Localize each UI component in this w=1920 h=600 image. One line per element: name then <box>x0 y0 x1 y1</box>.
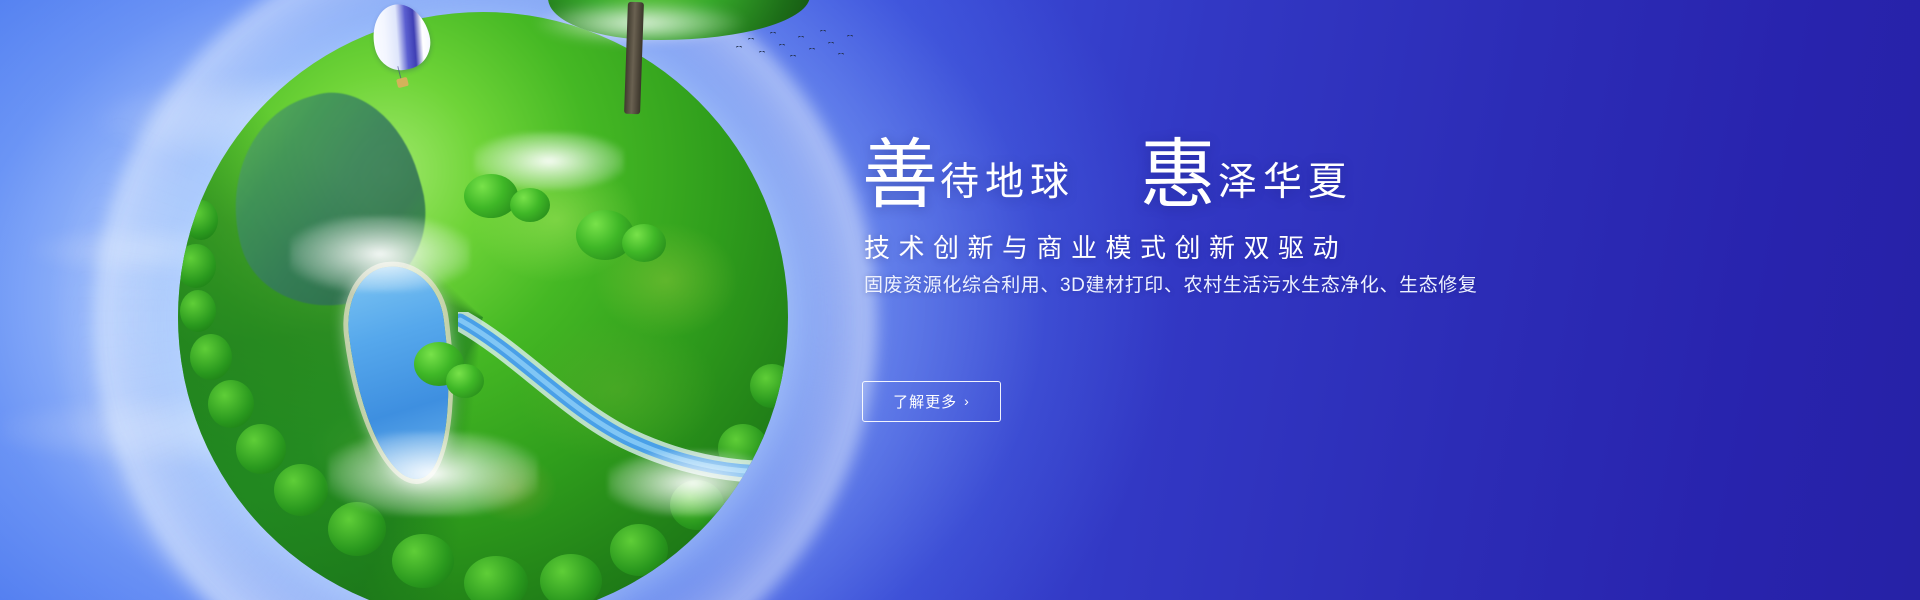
planet-river <box>458 312 788 532</box>
headline-phrase-1-lead: 善 <box>862 134 938 218</box>
rim-tree-bump <box>750 364 788 408</box>
subtitle: 技术创新与商业模式创新双驱动 <box>864 228 1347 265</box>
headline-phrase-1: 善待地球 <box>862 132 1075 208</box>
rim-tree-bump <box>540 554 602 600</box>
planet-grass-texture <box>178 12 788 600</box>
rim-tree-bump <box>236 424 286 474</box>
bird-icon <box>847 35 853 38</box>
bird-icon <box>736 46 742 49</box>
headline-phrase-2: 惠泽华夏 <box>1140 132 1353 208</box>
balloon-envelope <box>366 0 436 76</box>
planet-bush <box>510 188 550 222</box>
bird-icon <box>759 51 765 54</box>
planet-bush <box>576 210 634 260</box>
sky-arc-glow <box>60 0 880 600</box>
rim-tree-bump <box>328 502 386 556</box>
learn-more-label: 了解更多 <box>893 391 957 412</box>
balloon-line <box>397 66 401 80</box>
learn-more-button[interactable]: 了解更多 › <box>862 381 1001 422</box>
rim-tree-bump <box>180 290 216 332</box>
rim-tree-bump <box>178 244 216 288</box>
planet-bush <box>622 224 666 262</box>
planet-bush <box>464 174 518 218</box>
rim-tree-bump <box>184 200 218 240</box>
chevron-right-icon: › <box>964 394 970 408</box>
bird-icon <box>838 53 844 56</box>
bird-icon <box>790 55 796 58</box>
rim-tree-bump <box>610 524 668 576</box>
balloon-basket <box>396 77 409 88</box>
rim-tree-bump <box>670 480 724 530</box>
hot-air-balloon-icon <box>373 4 429 100</box>
planet-mountain-ridge <box>207 74 448 328</box>
green-planet <box>178 12 788 600</box>
planet-bush <box>446 364 484 398</box>
hero-banner: 善待地球 惠泽华夏 技术创新与商业模式创新双驱动 固废资源化综合利用、3D建材打… <box>0 0 1920 600</box>
rim-tree-bump <box>274 464 328 516</box>
planet-forest-rim <box>178 12 788 600</box>
bird-icon <box>820 30 826 33</box>
rim-tree-bump <box>464 556 528 600</box>
planet-low-cloud <box>328 432 538 516</box>
rim-tree-bump <box>208 380 254 428</box>
tree-canopy <box>548 0 810 40</box>
bird-icon <box>828 42 834 45</box>
planet-low-cloud <box>608 450 778 516</box>
bird-icon <box>779 44 785 47</box>
planet-lake <box>341 261 462 485</box>
headline-phrase-1-rest: 待地球 <box>940 161 1075 204</box>
hero-content: 善待地球 惠泽华夏 技术创新与商业模式创新双驱动 固废资源化综合利用、3D建材打… <box>862 0 1920 600</box>
rim-tree-bump <box>190 334 232 380</box>
bird-flock-icon <box>732 24 862 70</box>
planet-low-cloud <box>290 216 470 292</box>
headline: 善待地球 惠泽华夏 <box>862 132 1353 208</box>
bird-icon <box>798 36 804 39</box>
bird-icon <box>809 48 815 51</box>
headline-phrase-2-rest: 泽华夏 <box>1218 161 1353 204</box>
rim-tree-bump <box>392 534 454 588</box>
bird-icon <box>748 38 754 41</box>
headline-phrase-2-lead: 惠 <box>1140 134 1216 218</box>
globe-atmosphere-halo <box>94 0 876 600</box>
rim-tree-bump <box>718 424 768 472</box>
tree-mist <box>520 0 820 60</box>
bird-icon <box>770 32 776 35</box>
sky-clouds <box>0 0 980 600</box>
planet-low-cloud <box>474 132 624 190</box>
planet-bush <box>414 342 464 386</box>
tree-trunk <box>624 2 644 114</box>
globe-illustration <box>140 0 830 600</box>
hero-tree <box>520 0 820 114</box>
description: 固废资源化综合利用、3D建材打印、农村生活污水生态净化、生态修复 <box>864 270 1478 297</box>
